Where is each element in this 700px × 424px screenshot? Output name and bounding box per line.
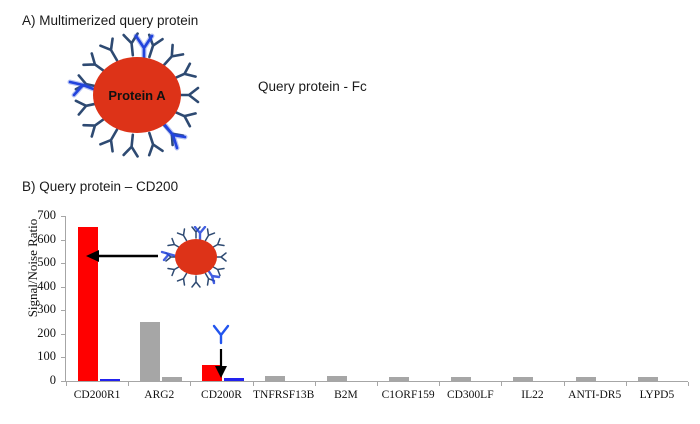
bar [389,377,409,381]
y-tick-label: 100 [37,349,56,364]
bar [265,376,285,381]
x-tick-mark [439,382,440,386]
x-tick-label: ARG2 [128,389,190,401]
x-tick-label: IL22 [501,389,563,401]
x-tick-label: C1ORF159 [377,389,439,401]
bar [638,377,658,381]
y-tick-label: 700 [37,208,56,223]
y-tick-label: 200 [37,326,56,341]
y-tick-label: 500 [37,255,56,270]
antibody-y-icon [203,323,239,381]
x-tick-mark [190,382,191,386]
signal-noise-bar-chart: Signal/Noise Ratio 010020030040050060070… [0,205,700,420]
arrow-left-icon [84,245,162,267]
x-tick-mark [564,382,565,386]
arrow-down-icon [215,349,227,378]
panel-a-title: A) Multimerized query protein [22,13,198,28]
multimer-bead-icon [156,226,236,288]
x-tick-label: CD200R1 [66,389,128,401]
x-tick-label: CD300LF [439,389,501,401]
y-tick-label: 300 [37,302,56,317]
panel-b-title: B) Query protein – CD200 [22,179,178,194]
protein-a-label: Protein A [108,88,166,103]
bar [576,377,596,381]
multimer-bead-icon: Protein A [52,28,222,162]
x-tick-label: LYPD5 [626,389,688,401]
x-tick-label: CD200R [190,389,252,401]
protein-a-bead [175,239,217,275]
bar [451,377,471,381]
bar [513,377,533,381]
x-tick-mark [253,382,254,386]
x-tick-mark [128,382,129,386]
x-tick-label: ANTI-DR5 [564,389,626,401]
x-tick-mark [688,382,689,386]
x-tick-mark [315,382,316,386]
y-tick-label: 0 [50,373,56,388]
x-tick-mark [626,382,627,386]
y-tick-label: 600 [37,232,56,247]
x-tick-mark [66,382,67,386]
figure-root: A) Multimerized query protein [0,0,700,424]
x-tick-mark [377,382,378,386]
x-tick-label: TNFRSF13B [253,389,315,401]
bar [162,377,182,381]
bar [100,379,120,381]
y-tick-label: 400 [37,279,56,294]
x-tick-mark [501,382,502,386]
panel-a-caption: Query protein - Fc [258,79,367,94]
x-tick-label: B2M [315,389,377,401]
bar [327,376,347,381]
bar [140,322,160,381]
